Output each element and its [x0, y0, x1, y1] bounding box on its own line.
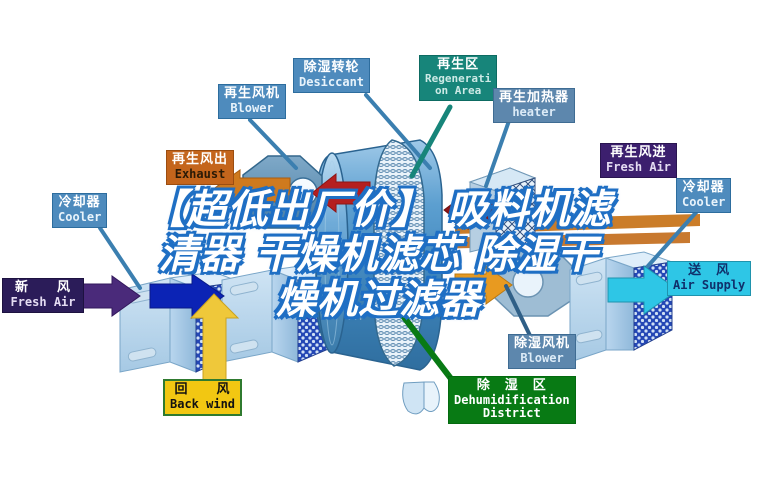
label-regen-exhaust-en: Exhaust: [172, 168, 228, 181]
label-dehumidification-district[interactable]: 除 湿 区 Dehumidification District: [448, 376, 576, 424]
label-fresh-air-inlet[interactable]: 新 风 Fresh Air: [2, 278, 84, 313]
label-cooler-left-en: Cooler: [58, 211, 101, 224]
label-regen-exhaust[interactable]: 再生风出 Exhaust: [166, 150, 234, 185]
label-air-supply-en: Air Supply: [673, 279, 745, 292]
label-desiccant-rotor-cn: 除湿转轮: [299, 61, 364, 76]
label-regeneration-area-en2: on Area: [425, 85, 491, 97]
label-dehumid-district-en2: District: [454, 407, 570, 420]
label-dehumid-district-cn: 除 湿 区: [454, 379, 570, 394]
label-cooler-left-cn: 冷却器: [58, 196, 101, 211]
label-regen-heater-cn: 再生加热器: [499, 91, 569, 106]
label-regen-fresh-air-cn: 再生风进: [606, 146, 671, 161]
label-regen-blower-cn: 再生风机: [224, 87, 280, 102]
label-desiccant-rotor[interactable]: 除湿转轮 Desiccant: [293, 58, 370, 93]
label-air-supply-cn: 送 风: [673, 264, 745, 279]
label-regen-blower-en: Blower: [224, 102, 280, 115]
label-fresh-air-inlet-cn: 新 风: [8, 281, 78, 296]
label-back-wind-en: Back wind: [170, 398, 235, 411]
label-fresh-air-inlet-en: Fresh Air: [8, 296, 78, 309]
label-desiccant-rotor-en: Desiccant: [299, 76, 364, 89]
label-regen-blower[interactable]: 再生风机 Blower: [218, 84, 286, 119]
label-dehumid-district-en1: Dehumidification: [454, 394, 570, 407]
label-regen-fresh-air[interactable]: 再生风进 Fresh Air: [600, 143, 677, 178]
diagram-canvas: XT: [0, 0, 757, 488]
supply-filter-unit: [570, 252, 672, 362]
label-regen-fresh-air-en: Fresh Air: [606, 161, 671, 174]
label-regeneration-area-en1: Regenerati: [425, 73, 491, 85]
label-cooler-right-en: Cooler: [682, 196, 725, 209]
label-regen-heater-en: heater: [499, 106, 569, 119]
label-regen-exhaust-cn: 再生风出: [172, 153, 228, 168]
label-dehumid-blower[interactable]: 除湿风机 Blower: [508, 334, 576, 369]
label-air-supply[interactable]: 送 风 Air Supply: [667, 261, 751, 296]
label-cooler-left[interactable]: 冷却器 Cooler: [52, 193, 107, 228]
label-regeneration-area-cn: 再生区: [425, 58, 491, 73]
condensate-drop: [403, 382, 440, 414]
machine-illustration: XT: [0, 0, 757, 488]
label-dehumid-blower-cn: 除湿风机: [514, 337, 570, 352]
label-regeneration-area[interactable]: 再生区 Regenerati on Area: [419, 55, 497, 101]
label-back-wind[interactable]: 回 风 Back wind: [163, 379, 242, 416]
label-dehumid-blower-en: Blower: [514, 352, 570, 365]
label-regen-heater[interactable]: 再生加热器 heater: [493, 88, 575, 123]
label-cooler-right-cn: 冷却器: [682, 181, 725, 196]
svg-text:XT: XT: [348, 309, 365, 324]
label-back-wind-cn: 回 风: [170, 383, 235, 398]
label-cooler-right[interactable]: 冷却器 Cooler: [676, 178, 731, 213]
